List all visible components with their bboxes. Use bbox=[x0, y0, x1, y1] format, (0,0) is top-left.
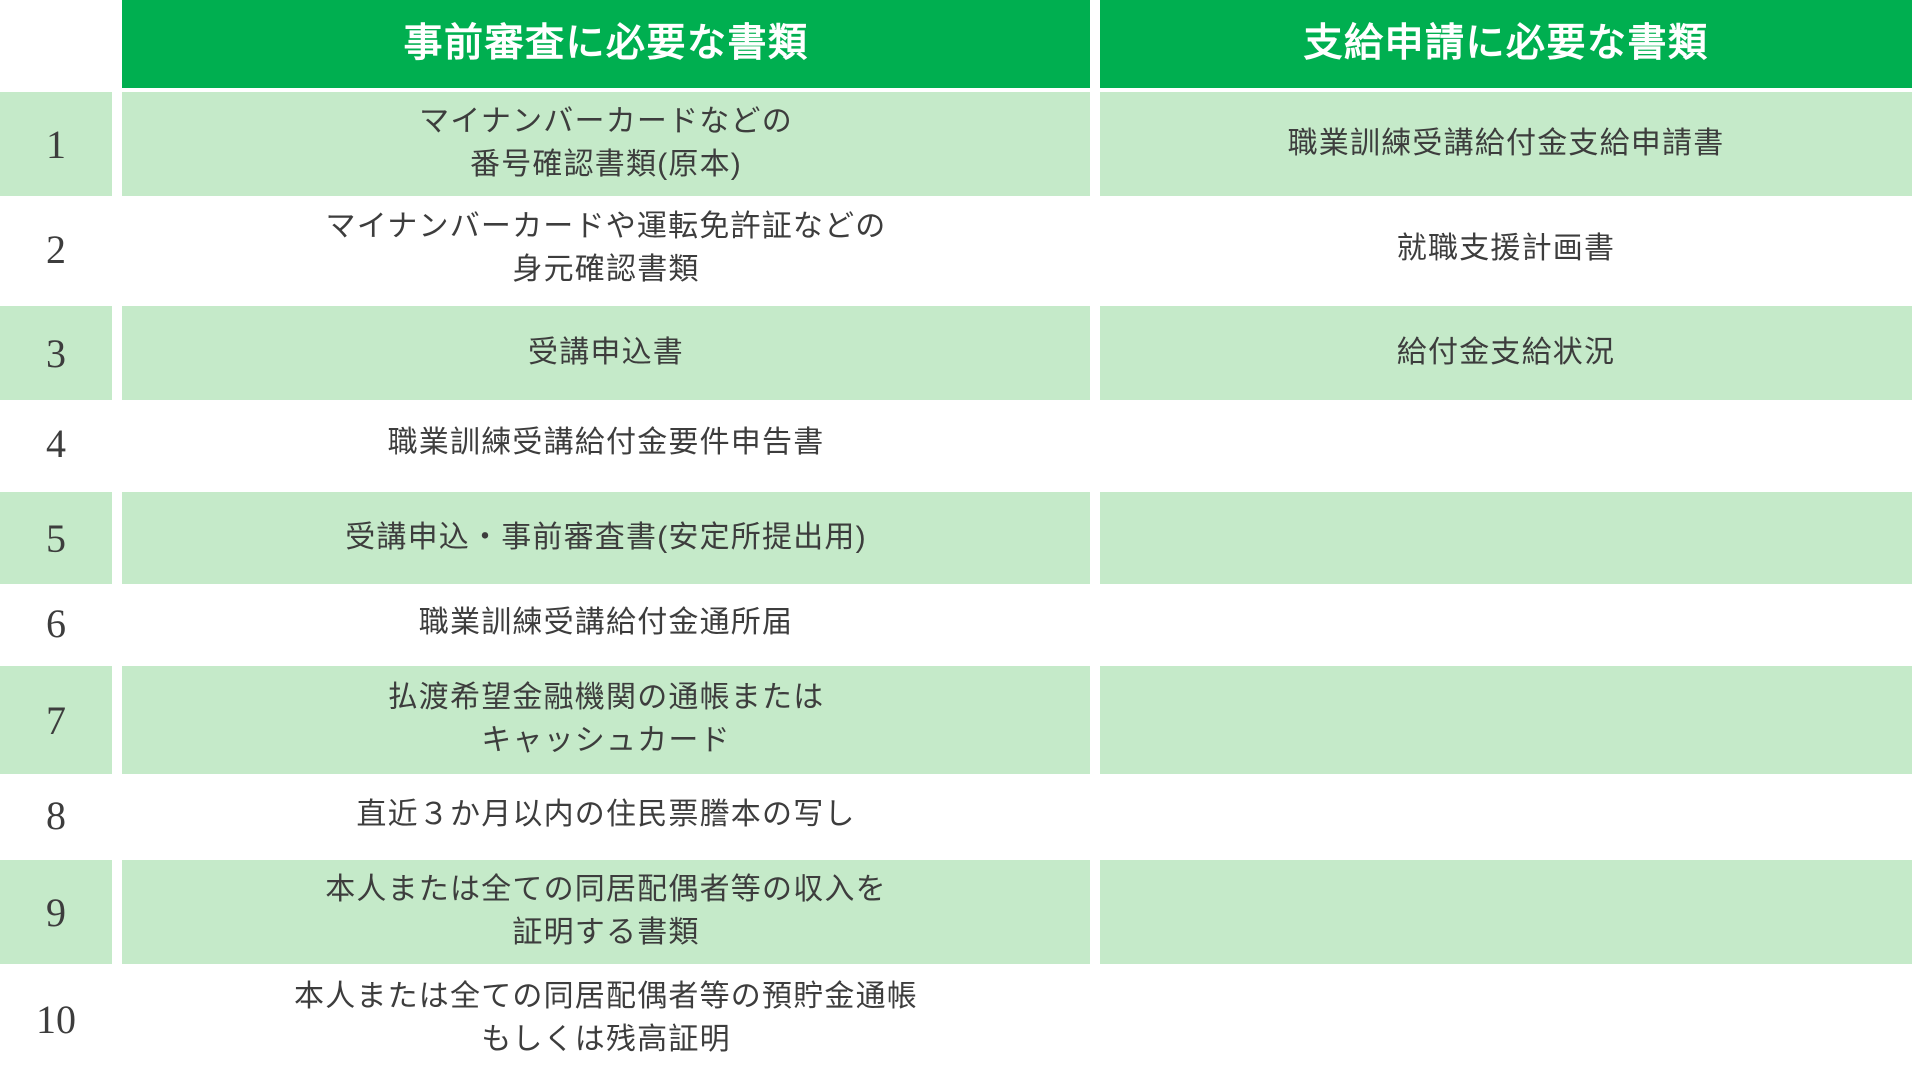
row-number: 5 bbox=[0, 492, 112, 584]
gutter bbox=[112, 400, 122, 486]
gutter bbox=[1912, 774, 1920, 856]
row-number: 8 bbox=[0, 774, 112, 856]
cell-payment-application bbox=[1100, 492, 1912, 584]
cell-pre-screening: 本人または全ての同居配偶者等の預貯金通帳 もしくは残高証明 bbox=[122, 964, 1090, 1074]
row-number: 9 bbox=[0, 860, 112, 964]
gutter bbox=[1090, 400, 1100, 486]
row-number: 2 bbox=[0, 196, 112, 302]
row-number: 6 bbox=[0, 584, 112, 662]
cell-pre-screening: 受講申込・事前審査書(安定所提出用) bbox=[122, 492, 1090, 584]
gutter bbox=[1912, 400, 1920, 486]
gutter bbox=[112, 92, 122, 196]
gutter bbox=[1912, 964, 1920, 1074]
cell-pre-screening: 受講申込書 bbox=[122, 306, 1090, 400]
cell-pre-screening: 職業訓練受講給付金要件申告書 bbox=[122, 400, 1090, 486]
gutter bbox=[112, 492, 122, 584]
gutter bbox=[1090, 584, 1100, 662]
gutter bbox=[1912, 666, 1920, 774]
gutter bbox=[112, 196, 122, 302]
gutter bbox=[1912, 860, 1920, 964]
gutter bbox=[1090, 666, 1100, 774]
row-number: 3 bbox=[0, 306, 112, 400]
gutter-header-1 bbox=[112, 0, 122, 88]
gutter bbox=[1090, 964, 1100, 1074]
gutter bbox=[1090, 306, 1100, 400]
required-documents-table: 事前審査に必要な書類 支給申請に必要な書類 1 マイナンバーカードなどの 番号確… bbox=[0, 0, 1920, 1080]
cell-payment-application: 就職支援計画書 bbox=[1100, 196, 1912, 302]
cell-payment-application: 職業訓練受講給付金支給申請書 bbox=[1100, 92, 1912, 196]
number-column-header bbox=[0, 0, 112, 88]
gutter bbox=[1912, 584, 1920, 662]
gutter bbox=[112, 774, 122, 856]
cell-pre-screening: 本人または全ての同居配偶者等の収入を 証明する書類 bbox=[122, 860, 1090, 964]
gutter bbox=[1090, 860, 1100, 964]
gutter bbox=[112, 666, 122, 774]
cell-payment-application: 給付金支給状況 bbox=[1100, 306, 1912, 400]
cell-payment-application bbox=[1100, 774, 1912, 856]
gutter bbox=[1090, 774, 1100, 856]
gutter bbox=[1912, 92, 1920, 196]
cell-payment-application bbox=[1100, 964, 1912, 1074]
cell-pre-screening: マイナンバーカードや運転免許証などの 身元確認書類 bbox=[122, 196, 1090, 302]
gutter bbox=[1090, 92, 1100, 196]
gutter bbox=[112, 964, 122, 1074]
gutter bbox=[1090, 196, 1100, 302]
gutter bbox=[1912, 196, 1920, 302]
gutter bbox=[112, 584, 122, 662]
cell-payment-application bbox=[1100, 400, 1912, 486]
cell-payment-application bbox=[1100, 584, 1912, 662]
gutter-header-3 bbox=[1912, 0, 1920, 88]
cell-payment-application bbox=[1100, 860, 1912, 964]
cell-pre-screening: 払渡希望金融機関の通帳または キャッシュカード bbox=[122, 666, 1090, 774]
gutter-header-2 bbox=[1090, 0, 1100, 88]
gutter bbox=[1912, 492, 1920, 584]
row-number: 7 bbox=[0, 666, 112, 774]
gutter bbox=[112, 860, 122, 964]
gutter bbox=[1090, 492, 1100, 584]
document-root: 事前審査に必要な書類 支給申請に必要な書類 1 マイナンバーカードなどの 番号確… bbox=[0, 0, 1920, 1080]
cell-pre-screening: 職業訓練受講給付金通所届 bbox=[122, 584, 1090, 662]
header-payment-application: 支給申請に必要な書類 bbox=[1100, 0, 1912, 88]
cell-payment-application bbox=[1100, 666, 1912, 774]
cell-pre-screening: マイナンバーカードなどの 番号確認書類(原本) bbox=[122, 92, 1090, 196]
gutter bbox=[1912, 306, 1920, 400]
row-number: 10 bbox=[0, 964, 112, 1074]
gutter bbox=[112, 306, 122, 400]
row-number: 1 bbox=[0, 92, 112, 196]
header-pre-screening: 事前審査に必要な書類 bbox=[122, 0, 1090, 88]
cell-pre-screening: 直近３か月以内の住民票謄本の写し bbox=[122, 774, 1090, 856]
row-number: 4 bbox=[0, 400, 112, 486]
